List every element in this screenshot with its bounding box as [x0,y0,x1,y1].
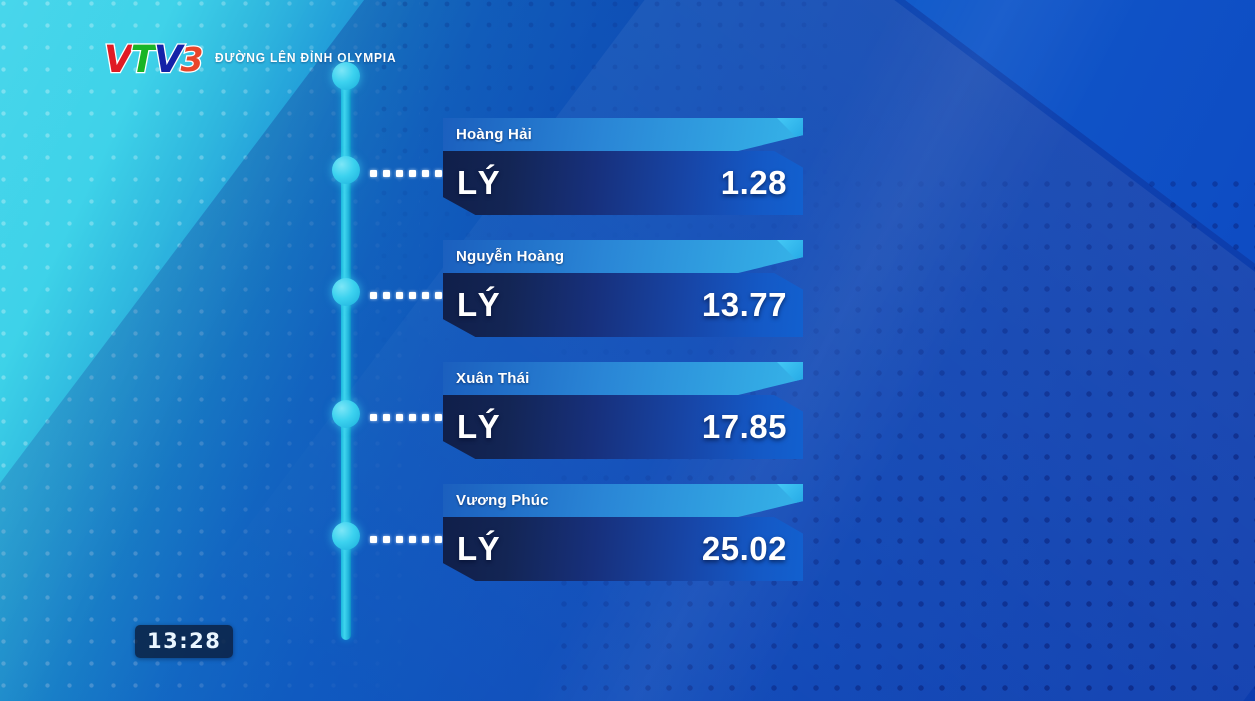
score-value: 25.02 [702,530,787,568]
contestant-name: Hoàng Hải [456,126,532,143]
result-card: Xuân Thái LÝ 17.85 [443,362,803,459]
contestant-name-tag: Xuân Thái [443,362,803,395]
result-card: Nguyễn Hoàng LÝ 13.77 [443,240,803,337]
results-list: Hoàng Hải LÝ 1.28 Nguyễn Hoàng LÝ 13.77 … [443,0,863,701]
contestant-name-tag: Hoàng Hải [443,118,803,151]
timeline-node-4 [332,522,360,550]
logo-letter-v1: V [104,44,131,76]
corner-accent-icon [777,240,803,266]
broadcast-graphic-stage: V T V 3 ĐƯỜNG LÊN ĐỈNH OLYMPIA Hoàng Hải [0,0,1255,701]
subject-label: LÝ [457,164,500,202]
corner-accent-icon [777,484,803,510]
timeline-node-3 [332,400,360,428]
score-value: 13.77 [702,286,787,324]
corner-accent-icon [777,118,803,144]
logo-letter-t: T [131,44,154,76]
vtv3-logo: V T V 3 [104,40,202,76]
subject-label: LÝ [457,408,500,446]
subject-label: LÝ [457,286,500,324]
subject-label: LÝ [457,530,500,568]
result-card: Hoàng Hải LÝ 1.28 [443,118,803,215]
timeline-node-top [332,62,360,90]
result-card-body: LÝ 17.85 [443,395,803,459]
logo-letter-v2: V [154,44,181,76]
timeline-node-2 [332,278,360,306]
contestant-name-tag: Nguyễn Hoàng [443,240,803,273]
clock-display: 13:28 [135,625,233,658]
result-card-body: LÝ 25.02 [443,517,803,581]
result-card-body: LÝ 1.28 [443,151,803,215]
corner-accent-icon [777,362,803,388]
result-card-body: LÝ 13.77 [443,273,803,337]
contestant-name-tag: Vương Phúc [443,484,803,517]
logo-digit-3: 3 [181,44,202,76]
result-card: Vương Phúc LÝ 25.02 [443,484,803,581]
contestant-name: Vương Phúc [456,492,549,509]
contestant-name: Nguyễn Hoàng [456,248,564,265]
channel-header: V T V 3 ĐƯỜNG LÊN ĐỈNH OLYMPIA [104,40,412,76]
timeline-node-1 [332,156,360,184]
score-value: 17.85 [702,408,787,446]
contestant-name: Xuân Thái [456,370,529,387]
show-title: ĐƯỜNG LÊN ĐỈNH OLYMPIA [215,50,396,67]
score-value: 1.28 [721,164,787,202]
timeline-rail [339,62,353,642]
